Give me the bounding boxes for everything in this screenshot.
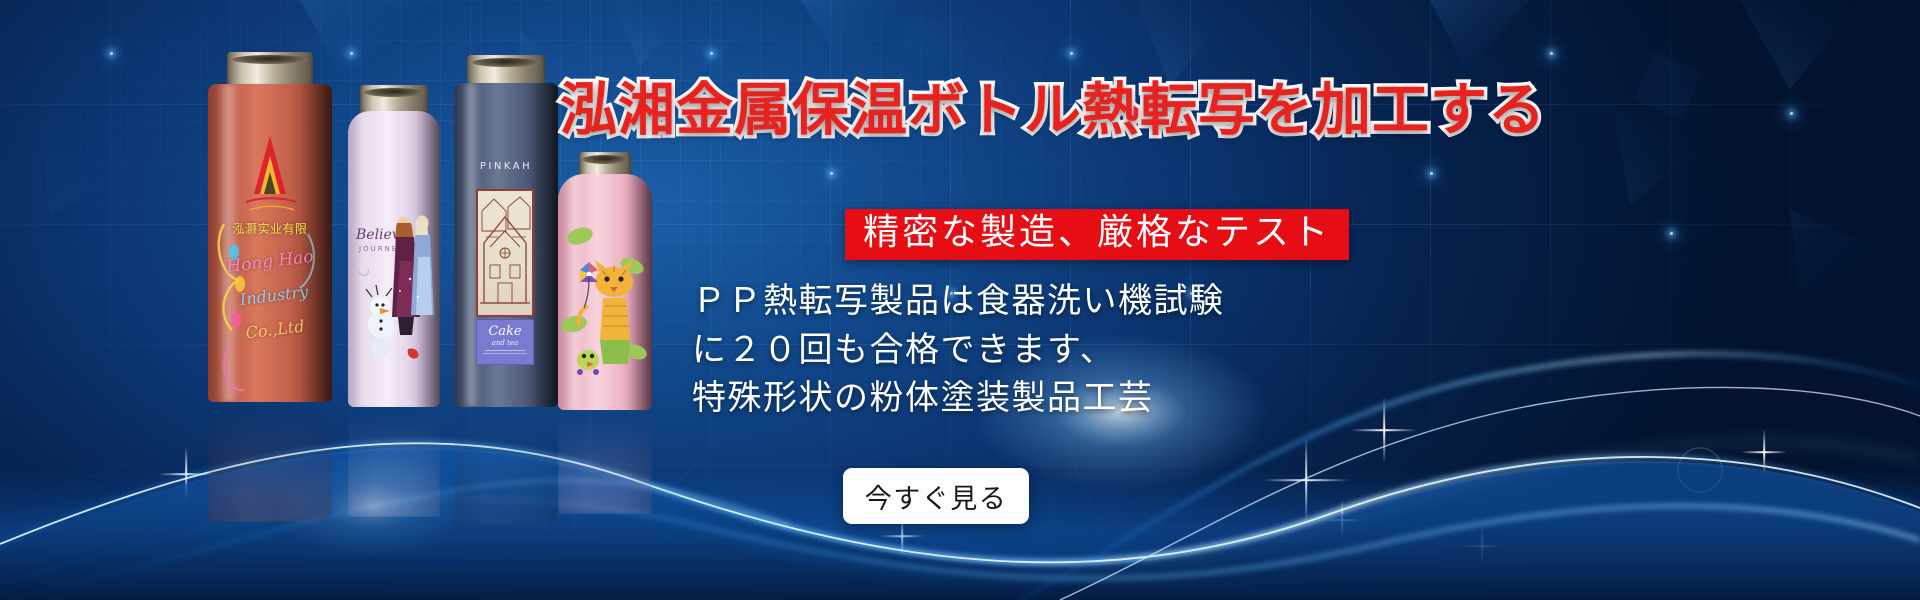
bottle-shadow [416,111,440,407]
bottle-highlight [218,84,239,402]
subheadline-band: 精密な製造、厳格なテスト [845,209,1349,260]
body-line: 特殊形状の粉体塗装製品工芸 [692,377,1692,421]
product-pink-tiger-bottle [558,152,652,410]
headline-text: 泓湘金属保温ボトル熱転写を加工する [560,82,1660,139]
bottle-label-band: Cake and tea [476,319,534,365]
banner-copy-block: 泓湘金属保温ボトル熱転写を加工する 精密な製造、厳格なテスト ＰＰ熱転写製品は食… [680,0,1920,600]
product-terracotta-bottle: 泓灏实业有限 Hong Hao Industry Co.,Ltd [208,52,332,402]
promotional-banner: 泓灏实业有限 Hong Hao Industry Co.,Ltd Believe… [0,0,1920,600]
house-illustration [478,191,532,315]
bottle-highlight [355,111,371,407]
bottle-body: Believe JOURNEY [348,111,440,407]
subheadline-text: 精密な製造、厳格なテスト [863,213,1331,253]
bottle-body: PINKAH [454,83,558,407]
bottle-body [558,174,652,410]
bottle-reflection [558,410,652,514]
product-lavender-frozen-bottle: Believe JOURNEY [348,85,440,407]
bottle-artwork-panel [476,189,534,317]
bottle-reflection [348,407,440,517]
bottle-body: 泓灏实业有限 Hong Hao Industry Co.,Ltd [208,84,332,402]
bottle-reflection [454,407,558,525]
body-line: に２０回も合格できます、 [692,329,1692,373]
bottle-shadow [300,84,332,402]
bottle-shadow [628,174,652,410]
bottle-shadow [531,83,558,407]
bottle-reflection [208,402,332,522]
bottle-highlight [566,174,582,410]
divider [483,353,527,354]
divider [485,350,525,351]
cta-button[interactable]: 今すぐ見る [843,468,1029,524]
body-line: ＰＰ熱転写製品は食器洗い機試験 [692,280,1692,324]
body-text-block: ＰＰ熱転写製品は食器洗い機試験 に２０回も合格できます、 特殊形状の粉体塗装製品… [692,280,1692,426]
product-slate-pinkah-bottle: PINKAH [454,55,558,407]
bottle-highlight [462,83,480,407]
bottle-print-line: Cake [477,324,533,339]
bottle-print-line: and tea [477,339,533,347]
